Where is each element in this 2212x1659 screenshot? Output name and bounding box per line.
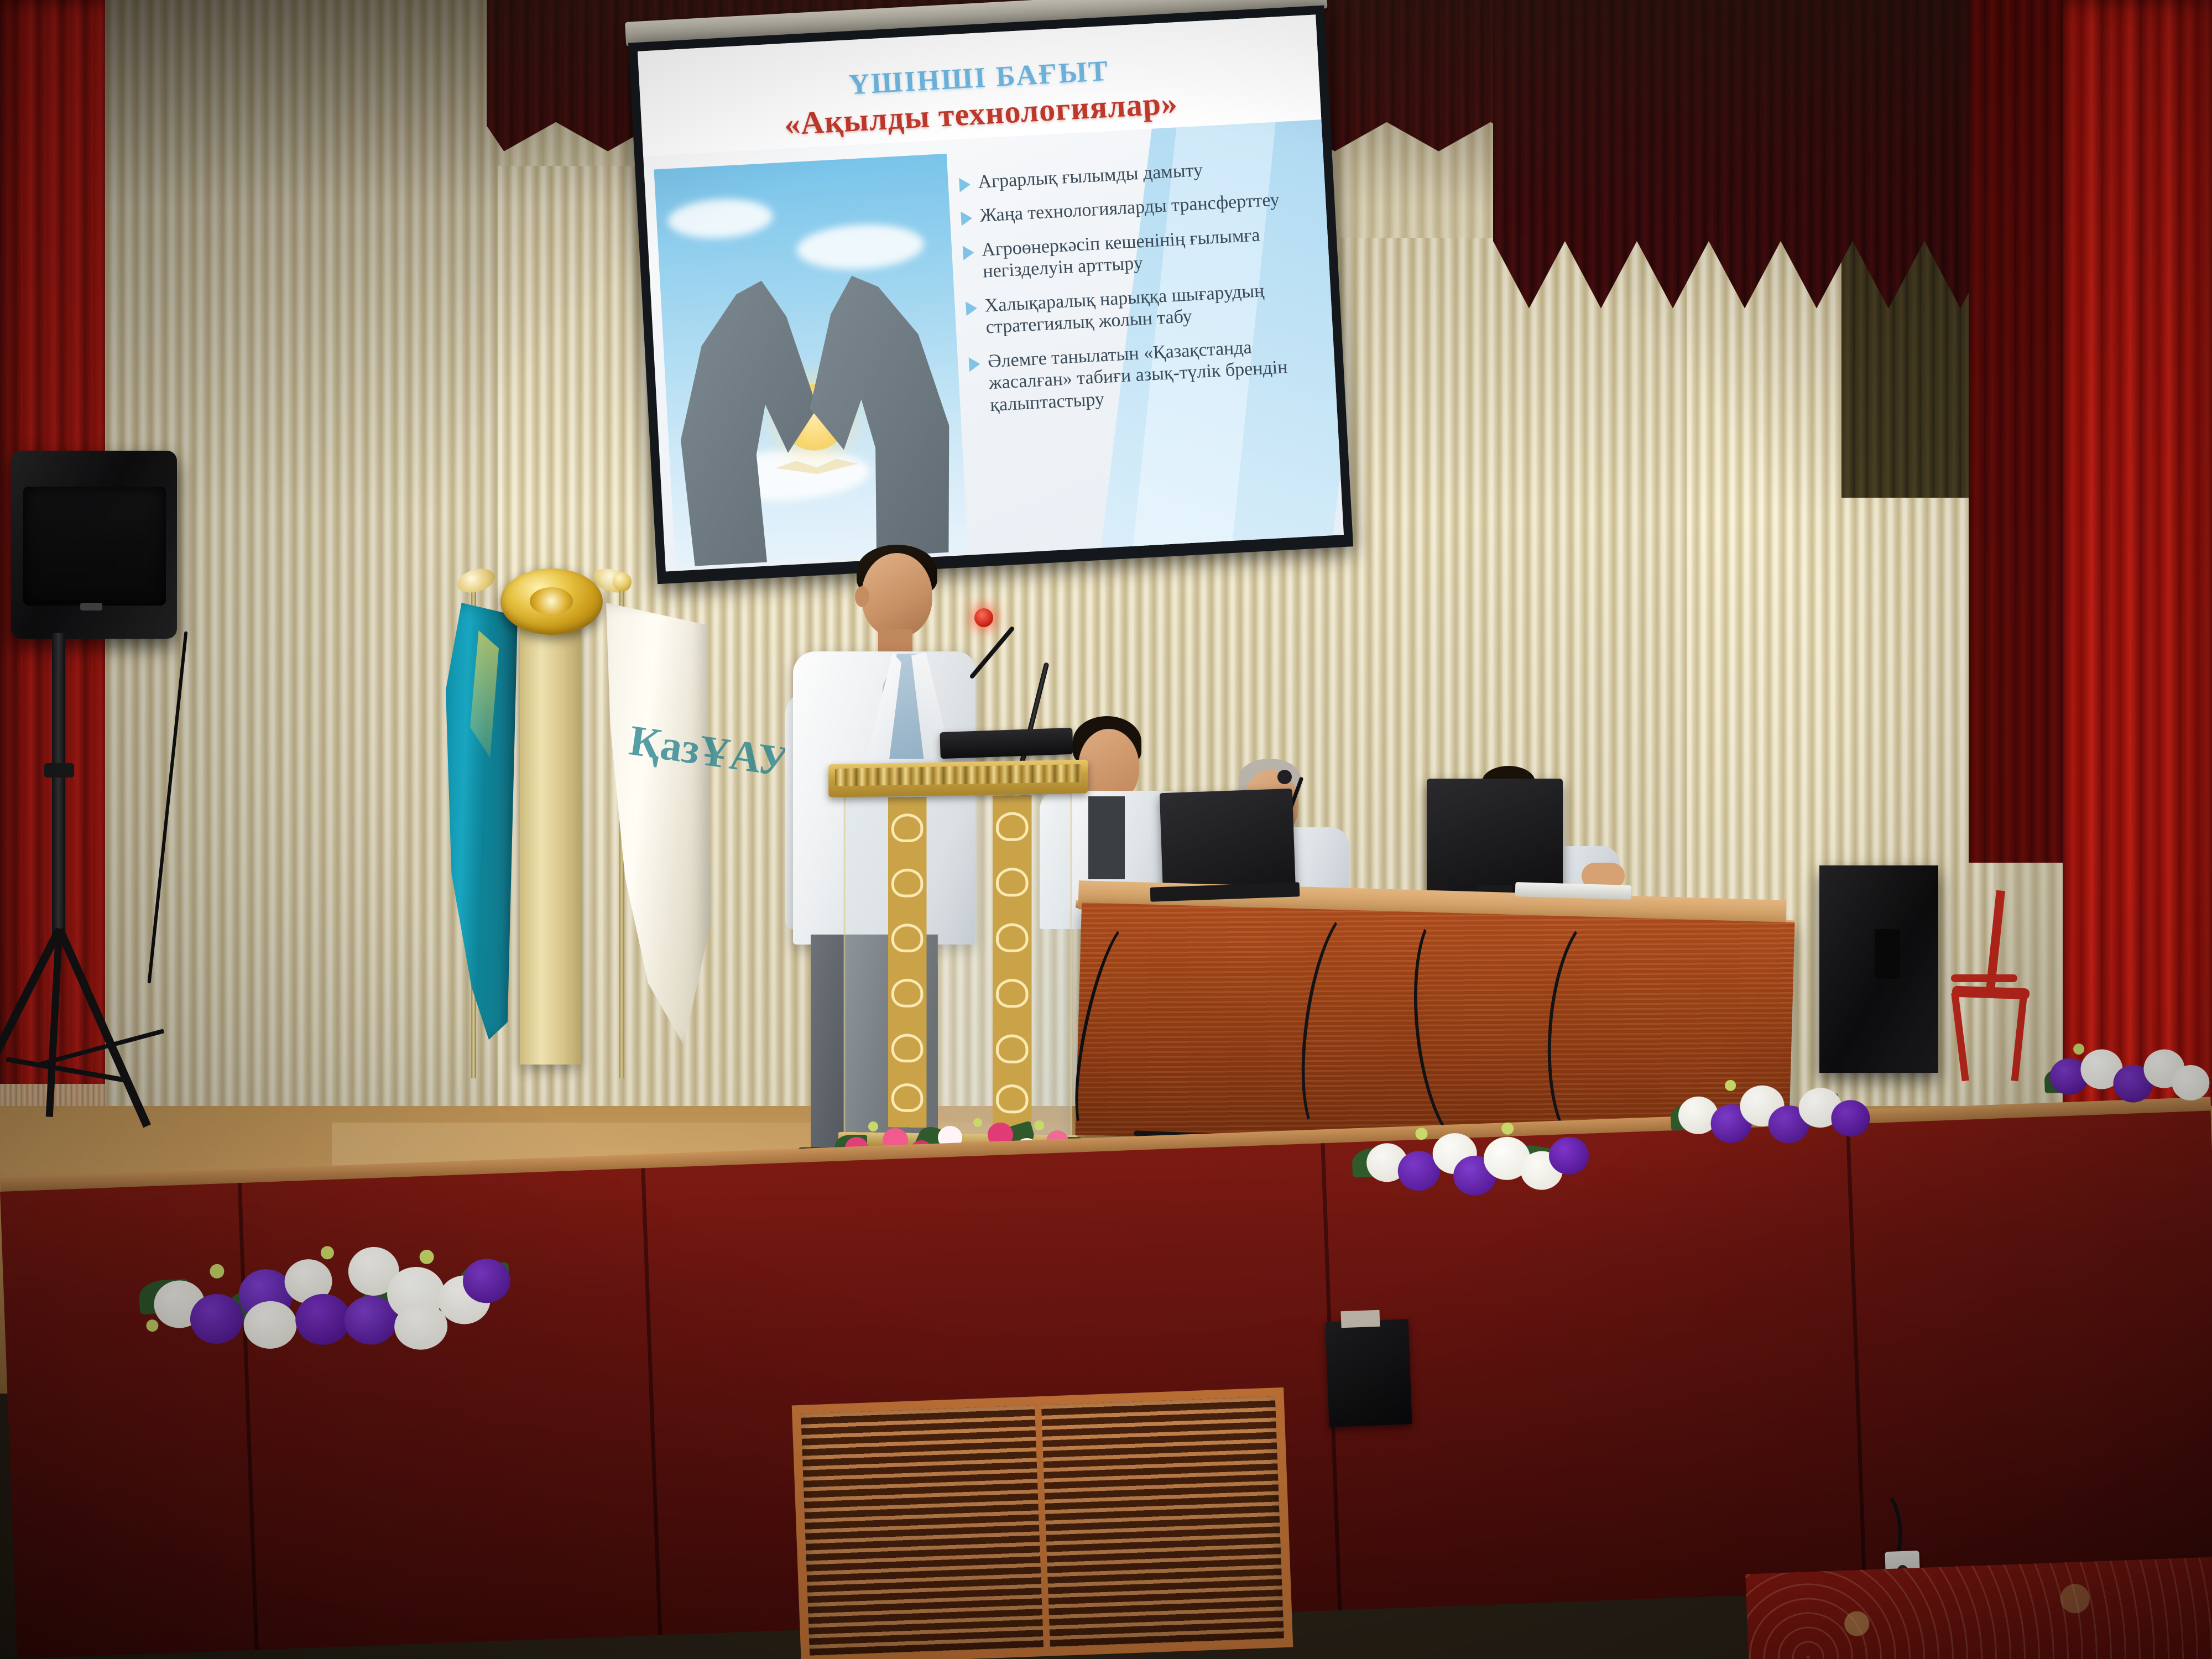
slide-bullet-text: Халықаралық нарыққа шығарудың стратегиял…: [984, 278, 1299, 338]
presenter-ear: [855, 586, 869, 607]
projection-screen: ҮШІНШІ БАҒЫТ «Ақылды технологиялар» Агра…: [625, 0, 1357, 596]
flower-arrangement-far-right: [2033, 1009, 2212, 1114]
flower-arrangement-right: [1657, 1041, 1893, 1155]
floor-carpet: [1745, 1556, 2212, 1659]
emblem-pedestal: [520, 628, 581, 1065]
desktop-monitor[interactable]: [1427, 779, 1563, 895]
pa-speaker-badge: [80, 603, 102, 611]
flag-finial-icon: [613, 572, 632, 591]
state-emblem-center: [530, 587, 573, 615]
pa-speaker-grille: [23, 487, 166, 606]
bullet-triangle-icon: [969, 357, 980, 372]
slide-bullet-item: Аграрлық ғылымды дамыту: [959, 154, 1291, 194]
wall-mount-clip: [1340, 1310, 1380, 1328]
slide-bullet-list: Аграрлық ғылымды дамыту Жаңа технологиял…: [959, 154, 1304, 429]
podium-equipment-plate: [940, 728, 1073, 759]
panelist-microphone-head: [1277, 770, 1292, 784]
flower-arrangement-center: [1342, 1082, 1634, 1202]
screen-frame: ҮШІНШІ БАҒЫТ «Ақылды технологиялар» Агра…: [628, 6, 1353, 585]
podium-ornament-panel-right: [993, 795, 1032, 1129]
chair-armrest: [1951, 974, 2017, 982]
slide-bullet-item: Халықаралық нарыққа шығарудың стратегиял…: [966, 278, 1299, 340]
slide-bullet-text: Аграрлық ғылымды дамыту: [978, 159, 1203, 193]
speaker-stand-collar: [44, 763, 74, 778]
bullet-triangle-icon: [966, 301, 977, 316]
conference-hall-photo: ҮШІНШІ БАҒЫТ «Ақылды технологиялар» Агра…: [0, 0, 2212, 1659]
stage-front-vent-grille: [792, 1387, 1293, 1659]
podium-ornament-panel-left: [888, 797, 926, 1128]
slide-bullet-text: Әлемге танылатын «Қазақстанда жасалған» …: [987, 333, 1303, 416]
slide-bullet-text: Жаңа технологияларды трансферттеу: [979, 189, 1280, 227]
podium-acrylic-body: [844, 792, 1072, 1139]
wall-mount-bracket: [1326, 1319, 1412, 1427]
slide-image-hands-heart: [654, 154, 968, 567]
slide-bullet-item: Жаңа технологияларды трансферттеу: [961, 189, 1293, 228]
slide-bullet-text: Агроөнеркәсіп кешенінің ғылымға негіздел…: [981, 222, 1296, 283]
slide-bullet-item: Агроөнеркәсіп кешенінің ғылымға негіздел…: [962, 222, 1296, 284]
presenter-head: [862, 553, 932, 637]
speaker-stand-pole: [52, 633, 65, 943]
laptop-screen[interactable]: [1160, 789, 1296, 898]
panelist-1-inner-shirt: [1088, 796, 1125, 879]
podium-microphone-head-icon: [974, 608, 993, 627]
flower-arrangement-left: [124, 1196, 518, 1354]
bullet-triangle-icon: [961, 211, 972, 226]
speaker-cabinet-port: [1875, 929, 1900, 979]
slide-bullet-item: Әлемге танылатын «Қазақстанда жасалған» …: [968, 333, 1303, 417]
bullet-triangle-icon: [959, 178, 971, 192]
hand-left-silhouette: [672, 272, 832, 567]
slide-canvas: ҮШІНШІ БАҒЫТ «Ақылды технологиялар» Агра…: [638, 14, 1344, 571]
bullet-triangle-icon: [963, 245, 974, 260]
hand-right-silhouette: [797, 265, 957, 567]
